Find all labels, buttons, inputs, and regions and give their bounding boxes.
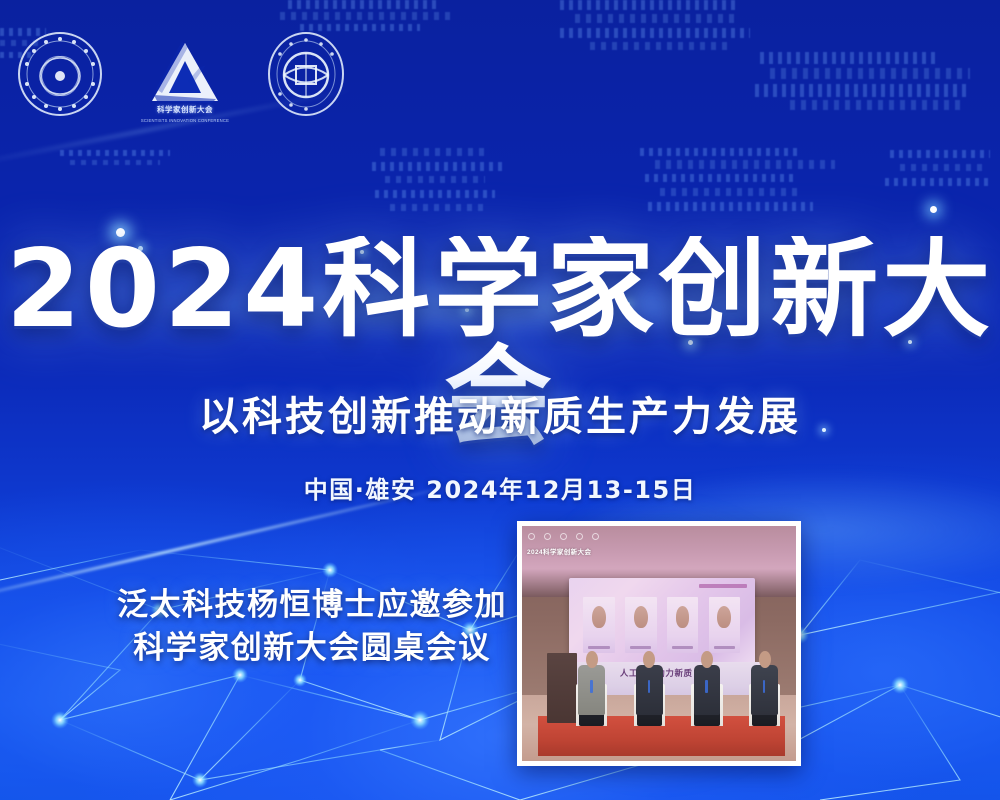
banner-icon	[560, 533, 567, 540]
event-photo: 2024科学家创新大会 人工智能助力新质	[517, 521, 801, 766]
panelist	[632, 646, 667, 726]
head	[586, 651, 598, 669]
banner-icon	[544, 533, 551, 540]
torso	[694, 665, 721, 715]
poster-caption: 泛太科技杨恒博士应邀参加 科学家创新大会圆桌会议	[112, 584, 512, 670]
badge-lanyard	[705, 680, 707, 693]
panelist	[747, 646, 782, 726]
caption-line-1: 泛太科技杨恒博士应邀参加	[112, 584, 512, 627]
banner-icon	[576, 533, 583, 540]
panelist-row	[574, 646, 782, 726]
logo-triangle-center: 科学家创新大会 SCIENTISTS INNOVATION CONFERENCE	[148, 39, 222, 109]
panelist	[574, 646, 609, 726]
head	[759, 651, 771, 669]
emblem-circular-right-icon	[266, 30, 346, 118]
head	[701, 651, 713, 669]
banner-icon	[592, 533, 599, 540]
bokeh-particle	[930, 206, 937, 213]
logo-row: 科学家创新大会 SCIENTISTS INNOVATION CONFERENCE	[16, 30, 346, 118]
speaker-card	[625, 597, 656, 652]
banner-icon	[528, 533, 535, 540]
emblem-triangle-center-icon	[148, 39, 222, 109]
panelist	[689, 646, 724, 726]
photo-banner-text: 2024科学家创新大会	[527, 546, 591, 556]
torso	[751, 665, 778, 715]
logo-triangle-caption: 科学家创新大会	[157, 104, 213, 115]
speaker-card	[583, 597, 614, 652]
speaker-card	[709, 597, 740, 652]
badge-lanyard	[763, 680, 765, 693]
logo-circular-left	[16, 30, 104, 118]
photo-banner-icons	[528, 533, 599, 540]
torso	[636, 665, 663, 715]
emblem-circular-left-icon	[16, 30, 104, 118]
logo-triangle-caption-sub: SCIENTISTS INNOVATION CONFERENCE	[141, 118, 229, 123]
caption-line-2: 科学家创新大会圆桌会议	[112, 627, 512, 670]
logo-circular-right	[266, 30, 346, 118]
badge-lanyard	[648, 680, 650, 693]
photo-podium	[547, 653, 577, 724]
event-photo-inner: 2024科学家创新大会 人工智能助力新质	[522, 526, 796, 761]
speaker-card-row	[583, 597, 740, 652]
conference-poster: 科学家创新大会 SCIENTISTS INNOVATION CONFERENCE	[0, 0, 1000, 800]
poster-subtitle: 以科技创新推动新质生产力发展	[0, 384, 1000, 442]
badge-lanyard	[590, 680, 592, 693]
screen-title-bar	[699, 584, 747, 588]
torso	[578, 665, 605, 715]
speaker-card	[667, 597, 698, 652]
poster-dateline: 中国·雄安 2024年12月13-15日	[0, 470, 1000, 505]
